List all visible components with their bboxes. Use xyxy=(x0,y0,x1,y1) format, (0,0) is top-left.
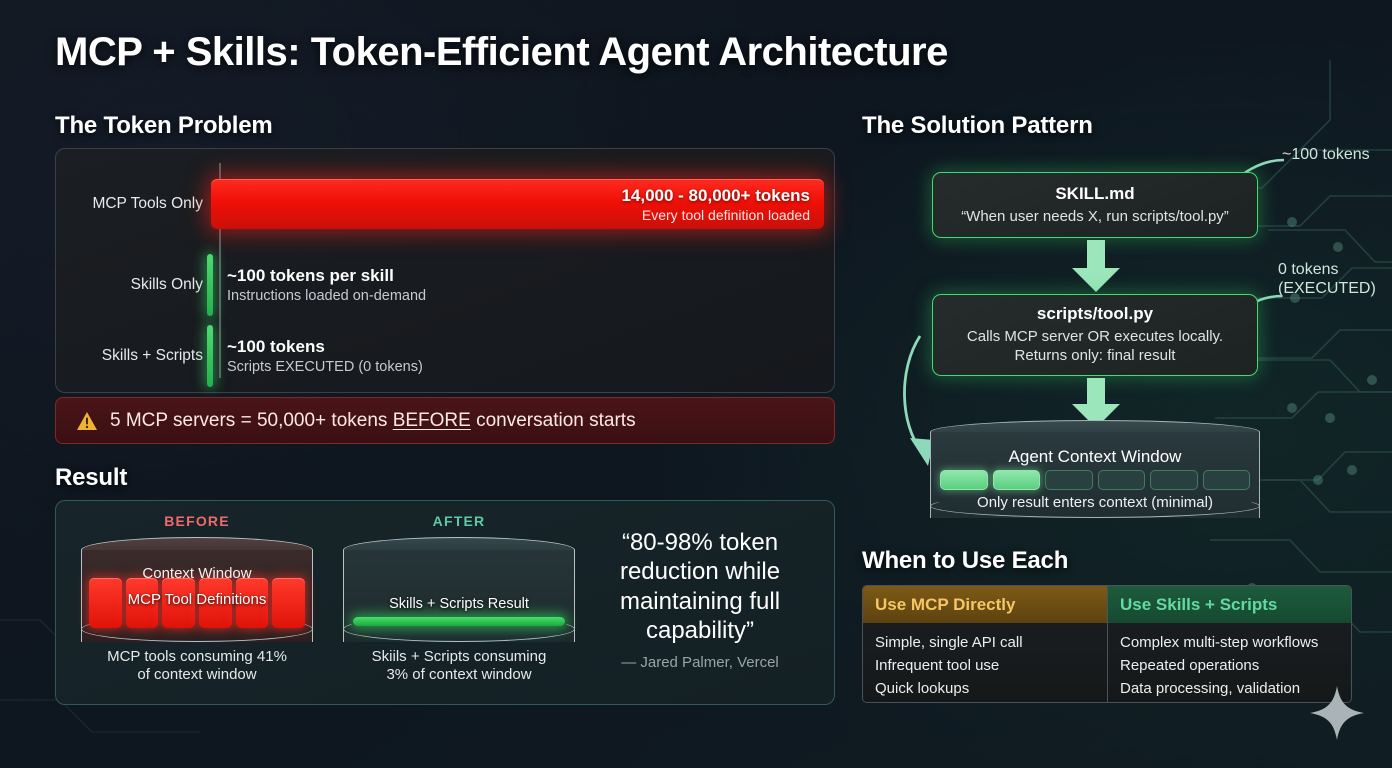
warning-text-after: conversation starts xyxy=(471,410,636,431)
list-item: Complex multi-step workflows xyxy=(1120,632,1339,655)
flow-step-title: SKILL.md xyxy=(1055,184,1134,204)
segment-empty xyxy=(1150,470,1198,490)
chart-bar-skills-only xyxy=(207,254,213,316)
annotation-skill-tokens: ~100 tokens xyxy=(1282,145,1370,164)
chart-value-sublabel: Every tool definition loaded xyxy=(642,207,810,223)
flow-step-subtitle: Calls MCP server OR executes locally. Re… xyxy=(967,328,1223,366)
token-problem-chart-panel: MCP Tools Only 14,000 - 80,000+ tokens E… xyxy=(55,148,835,393)
before-cylinder-title: Context Window xyxy=(81,565,313,582)
warning-emphasis: BEFORE xyxy=(393,410,471,431)
chart-value-label: 14,000 - 80,000+ tokens xyxy=(621,186,810,206)
quote-text: “80-98% token reduction while maintainin… xyxy=(575,528,825,645)
annotation-script-tokens: 0 tokens (EXECUTED) xyxy=(1278,260,1376,298)
chart-bar-skills-plus-scripts xyxy=(207,325,213,387)
quote-attribution: — Jared Palmer, Vercel xyxy=(575,654,825,671)
section-heading-token-problem: The Token Problem xyxy=(55,112,273,140)
result-before-caption: BEFORE xyxy=(81,513,313,529)
warning-banner: 5 MCP servers = 50,000+ tokens BEFORE co… xyxy=(55,397,835,444)
agent-context-title: Agent Context Window xyxy=(930,447,1260,467)
before-context-window-cylinder: Context Window MCP Tool Definitions xyxy=(81,537,313,642)
section-heading-result: Result xyxy=(55,464,127,492)
chart-value-sublabel: Scripts EXECUTED (0 tokens) xyxy=(227,359,423,375)
segment-empty xyxy=(1045,470,1093,490)
before-note: MCP tools consuming 41% of context windo… xyxy=(81,648,313,685)
before-fill-label: MCP Tool Definitions xyxy=(81,591,313,608)
segment-empty xyxy=(1098,470,1146,490)
page-title: MCP + Skills: Token-Efficient Agent Arch… xyxy=(55,30,948,75)
after-fill-bar xyxy=(353,617,565,626)
list-item: Simple, single API call xyxy=(875,632,1095,655)
chart-bar-mcp-tools-only: 14,000 - 80,000+ tokens Every tool defin… xyxy=(211,179,824,229)
segment-filled xyxy=(993,470,1041,490)
agent-context-segment-group xyxy=(940,470,1250,490)
flow-step-title: scripts/tool.py xyxy=(1037,304,1153,324)
warning-text: 5 MCP servers = 50,000+ tokens BEFORE co… xyxy=(110,410,636,432)
agent-context-subtitle: Only result enters context (minimal) xyxy=(930,494,1260,511)
list-item: Infrequent tool use xyxy=(875,655,1095,678)
warning-triangle-icon xyxy=(76,411,98,431)
result-quote: “80-98% token reduction while maintainin… xyxy=(575,528,825,671)
comparison-table: Use MCP Directly Use Skills + Scripts Si… xyxy=(862,585,1352,703)
chart-category-label: Skills + Scripts xyxy=(56,347,211,365)
chart-value-label: ~100 tokens xyxy=(227,337,423,357)
chart-value-sublabel: Instructions loaded on-demand xyxy=(227,288,426,304)
chart-row-skills-only: Skills Only ~100 tokens per skill Instru… xyxy=(56,254,824,316)
section-heading-when-to-use: When to Use Each xyxy=(862,547,1068,575)
list-item: Repeated operations xyxy=(1120,655,1339,678)
chart-value-label: ~100 tokens per skill xyxy=(227,266,426,286)
chart-category-label: Skills Only xyxy=(56,276,211,294)
chart-row-skills-plus-scripts: Skills + Scripts ~100 tokens Scripts EXE… xyxy=(56,325,824,387)
comparison-header-mcp: Use MCP Directly xyxy=(863,586,1107,623)
result-before-column: BEFORE Context Window MCP Tool Definitio… xyxy=(81,513,313,685)
result-after-caption: AFTER xyxy=(343,513,575,529)
sparkle-logo-icon xyxy=(1310,686,1364,740)
section-heading-solution-pattern: The Solution Pattern xyxy=(862,112,1093,140)
warning-text-before: 5 MCP servers = 50,000+ tokens xyxy=(110,410,393,431)
after-context-window-cylinder: Skills + Scripts Result xyxy=(343,537,575,642)
chart-category-label: MCP Tools Only xyxy=(56,195,211,213)
comparison-header-skills: Use Skills + Scripts xyxy=(1107,586,1351,623)
segment-empty xyxy=(1203,470,1251,490)
after-fill-label: Skills + Scripts Result xyxy=(343,596,575,612)
list-item: Quick lookups xyxy=(875,678,1095,701)
segment-filled xyxy=(940,470,988,490)
list-item: Data processing, validation xyxy=(1120,678,1339,701)
result-after-column: AFTER Skills + Scripts Result Skiils + S… xyxy=(343,513,575,685)
comparison-cell-mcp: Simple, single API call Infrequent tool … xyxy=(863,623,1107,703)
flow-arrow-down-1-icon xyxy=(1068,240,1124,294)
agent-context-window-cylinder: Agent Context Window Only result enters … xyxy=(930,420,1260,518)
flow-step-subtitle: “When user needs X, run scripts/tool.py” xyxy=(961,208,1229,227)
chart-row-mcp-tools-only: MCP Tools Only 14,000 - 80,000+ tokens E… xyxy=(56,179,824,229)
flow-step-skill-md: SKILL.md “When user needs X, run scripts… xyxy=(932,172,1258,238)
after-note: Skiils + Scripts consuming 3% of context… xyxy=(343,648,575,685)
flow-step-scripts-tool-py: scripts/tool.py Calls MCP server OR exec… xyxy=(932,294,1258,376)
